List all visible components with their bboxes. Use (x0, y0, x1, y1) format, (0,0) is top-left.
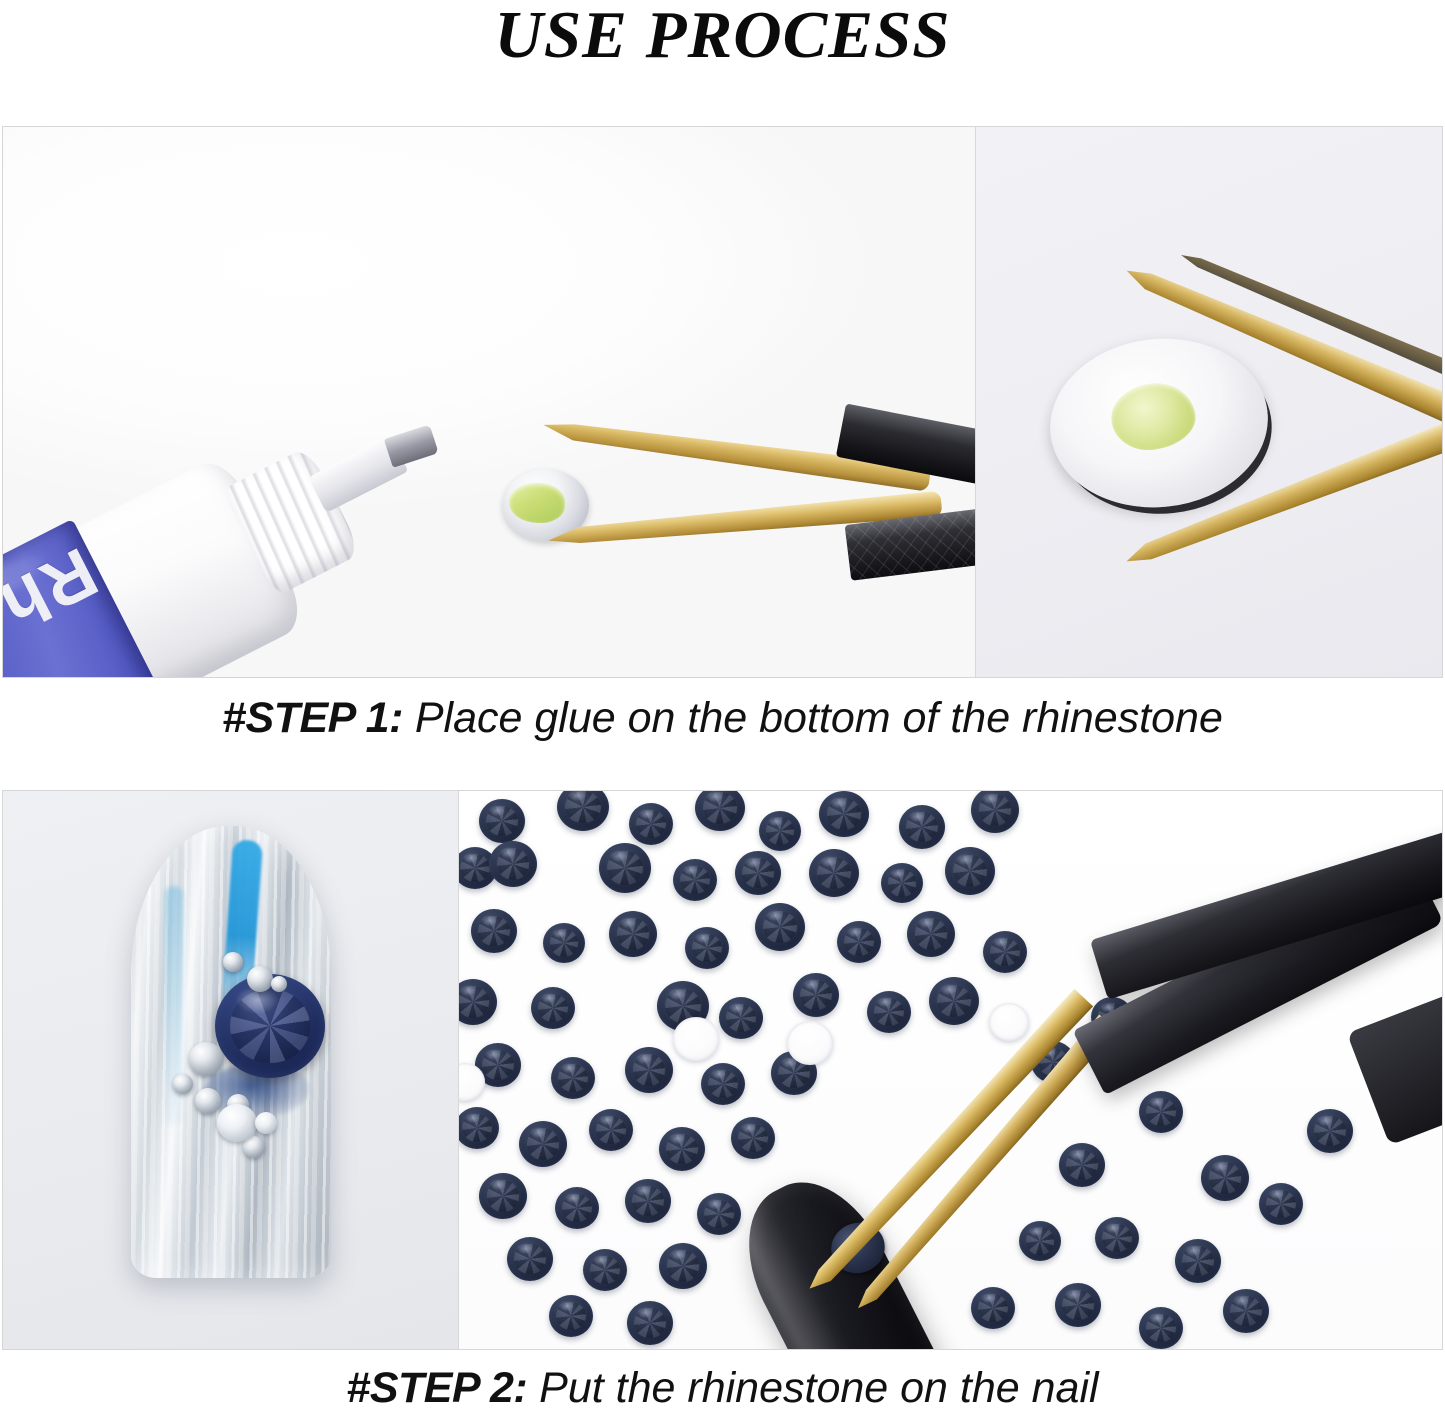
navy-rhinestone (215, 974, 325, 1078)
rhinestone (489, 841, 537, 887)
rhinestone (809, 849, 859, 897)
silver-bead (223, 952, 243, 972)
clear-crystal (255, 1112, 277, 1134)
rhinestone (837, 921, 881, 963)
step-2-image-row (2, 790, 1443, 1350)
rhinestone (899, 805, 945, 849)
rhinestone (583, 1249, 627, 1291)
glue-application-photo: Rh G (3, 127, 975, 677)
rhinestone (589, 1109, 633, 1151)
glue-drop (1108, 379, 1198, 453)
finished-nail-photo (3, 791, 458, 1349)
rhinestone (1223, 1289, 1269, 1333)
rhinestone (701, 1063, 745, 1105)
rhinestone (793, 973, 839, 1017)
rhinestone (659, 1243, 707, 1289)
rhinestone (1059, 1143, 1105, 1187)
rhinestone (471, 909, 517, 953)
rhinestone (1259, 1183, 1303, 1225)
rhinestone (819, 791, 869, 837)
rhinestone (599, 843, 651, 893)
rhinestone-flatback (787, 1021, 833, 1065)
rhinestone (929, 977, 979, 1025)
rhinestone (759, 811, 801, 851)
rhinestone (479, 799, 525, 843)
step-2-caption: #STEP 2: Put the rhinestone on the nail (0, 1366, 1445, 1411)
step-1-caption: #STEP 1: Place glue on the bottom of the… (0, 696, 1445, 741)
rhinestone (755, 903, 805, 951)
page-title: USE PROCESS (0, 2, 1445, 69)
rhinestone (609, 911, 657, 957)
rhinestone (971, 1287, 1015, 1329)
silver-bead (189, 1042, 223, 1076)
rhinestone (907, 911, 955, 957)
rhinestone (629, 803, 673, 845)
silver-bead (271, 976, 287, 992)
rhinestone (731, 1117, 775, 1159)
rhinestone (685, 927, 729, 969)
rhinestone (1139, 1091, 1183, 1133)
step-1-text: Place glue on the bottom of the rhinesto… (403, 694, 1223, 742)
rhinestone (479, 1173, 527, 1219)
rhinestone (625, 1179, 671, 1223)
step-2-text: Put the rhinestone on the nail (527, 1364, 1098, 1412)
rhinestone (1019, 1221, 1061, 1261)
rhinestone-flatback (673, 1017, 719, 1061)
rhinestone (625, 1047, 673, 1093)
step-1-label: #STEP 1: (222, 694, 403, 742)
rhinestone (867, 991, 911, 1033)
rhinestone (1175, 1239, 1221, 1283)
chrome-nail (131, 826, 331, 1278)
silver-bead (173, 1074, 193, 1094)
rhinestone (659, 1127, 705, 1171)
rhinestone (881, 863, 923, 903)
rhinestone (735, 851, 781, 895)
rhinestone (555, 1187, 599, 1229)
rhinestone (627, 1301, 673, 1345)
rhinestone (1139, 1307, 1183, 1349)
step-1-image-row: Rh G (2, 126, 1443, 678)
rhinestone (945, 847, 995, 895)
rhinestone (531, 987, 575, 1029)
rhinestone (983, 931, 1027, 973)
rhinestone (673, 859, 717, 901)
rhinestone (519, 1121, 567, 1167)
step-2-label: #STEP 2: (346, 1364, 527, 1412)
infographic-page: USE PROCESS Rh G (0, 0, 1445, 1412)
glued-rhinestone-macro-photo (976, 127, 1442, 677)
rhinestone-flatback (989, 1003, 1029, 1041)
rhinestone (507, 1237, 553, 1281)
rhinestone (1201, 1155, 1249, 1201)
rhinestone (551, 1057, 595, 1099)
rhinestone (1095, 1217, 1139, 1259)
clear-crystal (217, 1104, 257, 1142)
rhinestone (543, 923, 585, 963)
rhinestone (1055, 1283, 1101, 1327)
rhinestone (719, 997, 763, 1039)
silver-bead (247, 966, 273, 992)
rhinestone (549, 1295, 593, 1337)
rhinestone (1307, 1109, 1353, 1153)
silver-bead (195, 1088, 221, 1114)
applying-rhinestone-photo (459, 791, 1442, 1349)
